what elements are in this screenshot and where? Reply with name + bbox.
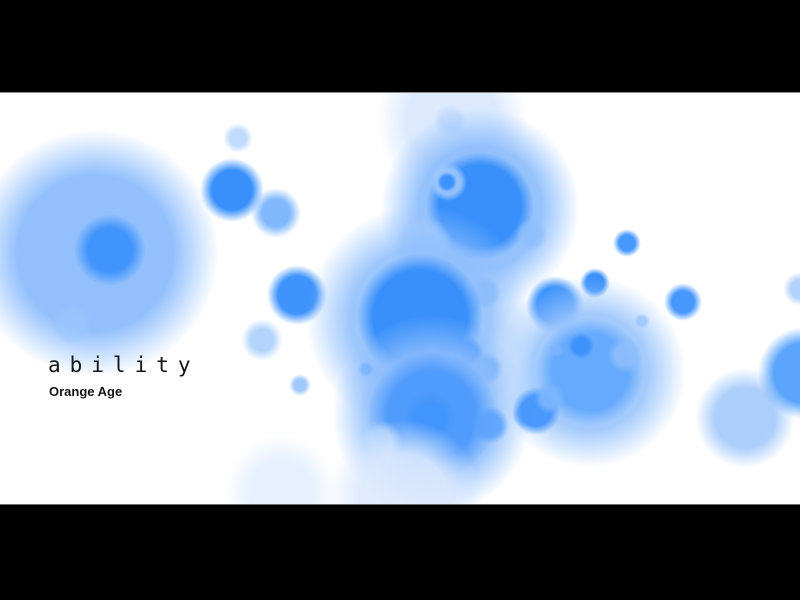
bokeh-circle [332, 315, 532, 504]
bokeh-circle [326, 420, 482, 504]
bokeh-circle [358, 361, 374, 377]
bokeh-circle [634, 313, 650, 329]
bokeh-circle [461, 294, 483, 316]
bokeh-circle [267, 265, 327, 325]
bokeh-circle [494, 276, 686, 468]
bokeh-circle [241, 319, 283, 361]
bokeh-circle [580, 268, 610, 298]
bokeh-circle [395, 216, 453, 274]
bokeh-circle [534, 382, 566, 414]
bokeh-circle [368, 351, 496, 479]
bokeh-circle [357, 254, 483, 380]
bokeh-circle [223, 123, 253, 153]
bokeh-circle [200, 158, 264, 222]
bokeh-circle [758, 327, 800, 419]
bokeh-circle [467, 276, 501, 310]
bokeh-circle [376, 93, 528, 197]
bokeh-circle [429, 163, 467, 201]
bokeh-circle [52, 305, 92, 345]
bokeh-circle [306, 205, 534, 433]
bokeh-circle [471, 406, 509, 444]
page-title: ability [48, 355, 200, 376]
bokeh-circle [664, 283, 702, 321]
bokeh-circle [536, 318, 644, 426]
bokeh-circle [433, 104, 467, 138]
bokeh-circle [512, 387, 560, 435]
bokeh-circle [380, 108, 580, 308]
bokeh-circle [783, 272, 800, 306]
bokeh-circle [613, 229, 641, 257]
letterbox-bar-bottom [0, 504, 800, 600]
bokeh-circle [515, 219, 547, 251]
bokeh-circle [607, 337, 643, 373]
bokeh-circle [548, 342, 564, 358]
bokeh-circle [448, 336, 484, 372]
bokeh-circle [437, 172, 457, 192]
bokeh-circle [225, 435, 337, 504]
bokeh-circle [512, 402, 538, 428]
video-frame: ability Orange Age [0, 93, 800, 504]
subtitle: Orange Age [49, 385, 200, 398]
bokeh-circle [469, 352, 503, 386]
bokeh-circle [251, 188, 301, 238]
bokeh-circle [358, 420, 402, 464]
bokeh-circle [426, 152, 534, 260]
bokeh-circle [404, 391, 456, 443]
bokeh-circle [695, 368, 795, 468]
title-card: ability Orange Age [48, 355, 200, 398]
bokeh-circle [0, 129, 219, 377]
bokeh-circle [568, 333, 594, 359]
screenshot-root: ability Orange Age [0, 0, 800, 600]
bokeh-circle [74, 214, 146, 286]
bokeh-circle [289, 374, 311, 396]
letterbox-bar-top [0, 0, 800, 93]
bokeh-circle [526, 276, 584, 334]
